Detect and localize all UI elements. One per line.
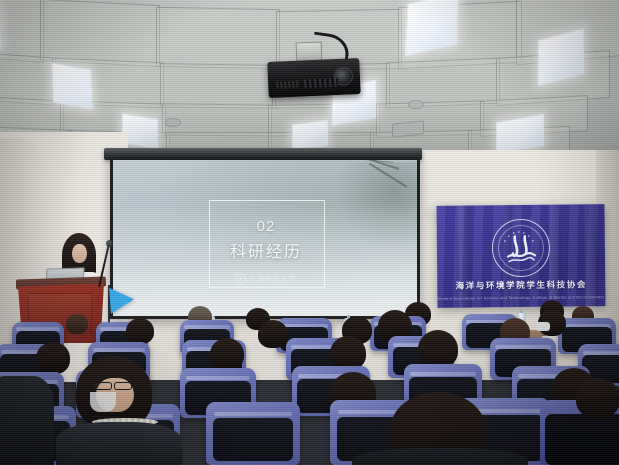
- screen-section-number: 02: [209, 218, 323, 235]
- eyeglasses-icon: [114, 382, 132, 390]
- face-mask-icon: [90, 392, 116, 412]
- foreground-attendee-shoulders: [352, 448, 528, 465]
- wave-motif-icon: [505, 234, 537, 264]
- audience-head: [66, 314, 88, 334]
- cyan-triangular-flag: [109, 286, 135, 314]
- banner-english-title: Student Association for Science and Tech…: [437, 295, 605, 301]
- banner-chinese-title: 海洋与环境学院学生科技协会: [437, 278, 605, 292]
- presenter-face: [72, 244, 87, 263]
- screen-section-title: 科研经历: [209, 238, 323, 262]
- projection-screen: 02 科研经历 天津科技大学: [113, 160, 417, 316]
- microphone-head: [106, 240, 113, 247]
- association-banner: 海洋与环境学院学生科技协会 Student Association for Sc…: [436, 204, 605, 308]
- ceiling-projector-icon: [267, 58, 360, 98]
- screen-logo-text: 天津科技大学: [249, 274, 297, 284]
- seat[interactable]: [206, 402, 300, 465]
- wave-sail-emblem-icon: [492, 219, 551, 278]
- eyeglasses-icon: [94, 382, 112, 390]
- audience-head: [126, 318, 154, 344]
- foreground-attendee-shoulders: [56, 422, 182, 465]
- audience-head: [330, 336, 366, 370]
- university-seal-icon: [235, 273, 246, 284]
- audience-silhouette: [0, 376, 54, 465]
- lecture-hall-photo: 02 科研经历 天津科技大学: [0, 0, 619, 465]
- audience-head: [36, 342, 70, 374]
- audience-head: [258, 320, 288, 348]
- screen-university-logo: 天津科技大学: [209, 272, 323, 285]
- audience-head: [576, 378, 619, 418]
- audience-head: [210, 338, 244, 370]
- audience-head: [418, 330, 458, 368]
- face-mask-icon: [536, 322, 550, 331]
